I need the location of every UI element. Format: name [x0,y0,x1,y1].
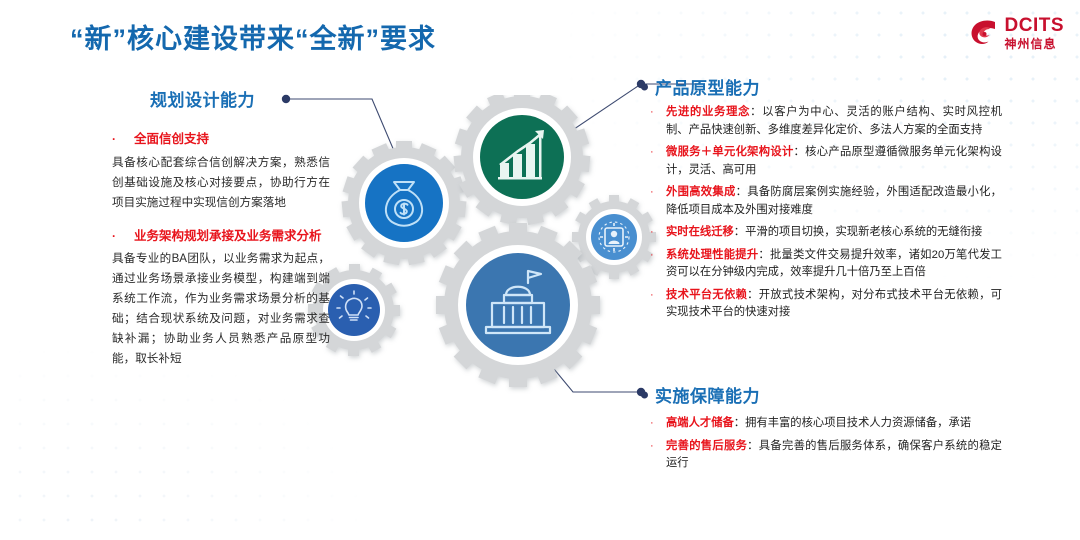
bullet-key: 先进的业务理念 [666,106,750,118]
right-top-bullet-0: · 先进的业务理念：以客户为中心、灵活的账户结构、实时风控机制、产品快速创新、多… [650,104,1002,139]
bullet-body: 拥有丰富的核心项目技术人力资源储备，承诺 [745,417,971,429]
bullet-marker-icon: · [650,247,666,264]
bullet-sep: ： [747,440,759,452]
left-bullet-0-head: · 全面信创支持 [112,130,330,149]
brand-logo: DCITS 神州信息 [969,16,1065,50]
logo-chinese-name: 神州信息 [1005,38,1065,50]
bullet-marker-icon: · [650,104,666,121]
page-title: “新”核心建设带来“全新”要求 [70,17,436,56]
logo-english-name: DCITS [1005,16,1065,35]
right-bottom-section-heading: 实施保障能力 [655,382,760,407]
right-top-bullet-2-text: 外围高效集成：具备防腐层案例实施经验，外围适配改造最小化，降低项目成本及外围对接… [666,184,1002,219]
bullet-key: 微服务＋单元化架构设计 [666,146,794,158]
bullet-sep: ： [734,417,745,429]
left-section-heading: 规划设计能力 [150,86,255,111]
right-bottom-bullet-0: · 高端人才储备：拥有丰富的核心项目技术人力资源储备，承诺 [650,415,1002,433]
bullet-marker-icon: · [650,144,666,161]
bullet-sep: ： [747,289,759,301]
bullet-key: 完善的售后服务 [666,440,747,452]
gear-growth [454,95,591,225]
left-bullet-1-body: 具备专业的BA团队，以业务需求为起点，通过业务场景承接业务模型，构建端到端系统工… [112,249,330,369]
bullet-marker-icon: · [650,415,666,432]
gear-money-bag [342,141,467,265]
right-top-bullet-4-text: 系统处理性能提升：批量类文件交易提升效率，诸如20万笔代发工资可以在分钟级内完成… [666,247,1002,282]
bullet-marker-icon: · [112,130,126,148]
bullet-marker-icon: · [650,224,666,241]
right-top-bullet-5: · 技术平台无依赖：开放式技术架构，对分布式技术平台无依赖，可实现技术平台的快速… [650,287,1002,322]
gear-center-disc [466,253,570,357]
bullet-sep: ： [750,106,762,118]
bullet-sep: ： [758,249,770,261]
left-bullet-1-title: 业务架构规划承接及业务需求分析 [126,227,330,246]
right-top-bullet-3: · 实时在线迁移：平滑的项目切换，实现新老核心系统的无缝衔接 [650,224,1002,242]
gear-cluster-illustration [300,95,660,425]
right-top-bullet-5-text: 技术平台无依赖：开放式技术架构，对分布式技术平台无依赖，可实现技术平台的快速对接 [666,287,1002,322]
bullet-key: 外围高效集成 [666,186,736,198]
right-top-bullet-3-text: 实时在线迁移：平滑的项目切换，实现新老核心系统的无缝衔接 [666,224,1002,242]
left-bullet-1-head: · 业务架构规划承接及业务需求分析 [112,227,330,246]
left-bullet-0-title: 全面信创支持 [126,130,330,149]
bullet-sep: ： [794,146,806,158]
right-bottom-bullet-0-text: 高端人才储备：拥有丰富的核心项目技术人力资源储备，承诺 [666,415,1002,433]
right-top-bullet-4: · 系统处理性能提升：批量类文件交易提升效率，诸如20万笔代发工资可以在分钟级内… [650,247,1002,282]
right-top-section-heading: 产品原型能力 [655,74,760,99]
left-bullet-1: · 业务架构规划承接及业务需求分析 具备专业的BA团队，以业务需求为起点，通过业… [112,227,330,369]
bullet-sep: ： [736,186,748,198]
right-top-bullet-2: · 外围高效集成：具备防腐层案例实施经验，外围适配改造最小化，降低项目成本及外围… [650,184,1002,219]
bullet-key: 技术平台无依赖 [666,289,747,301]
right-top-bullet-1: · 微服务＋单元化架构设计：核心产品原型遵循微服务单元化架构设计，灵活、高可用 [650,144,1002,179]
right-bottom-bullet-1-text: 完善的售后服务：具备完善的售后服务体系，确保客户系统的稳定运行 [666,438,1002,473]
gear-institution [436,223,600,387]
bullet-sep: ： [734,226,745,238]
left-section-body: · 全面信创支持 具备核心配套综合信创解决方案，熟悉信创基础设施及核心对接要点，… [112,130,330,383]
bullet-key: 实时在线迁移 [666,226,734,238]
bullet-marker-icon: · [112,227,126,245]
bullet-body: 平滑的项目切换，实现新老核心系统的无缝衔接 [745,226,982,238]
right-top-bullet-1-text: 微服务＋单元化架构设计：核心产品原型遵循微服务单元化架构设计，灵活、高可用 [666,144,1002,179]
left-bullet-0: · 全面信创支持 具备核心配套综合信创解决方案，熟悉信创基础设施及核心对接要点，… [112,130,330,213]
right-top-bullet-0-text: 先进的业务理念：以客户为中心、灵活的账户结构、实时风控机制、产品快速创新、多维度… [666,104,1002,139]
bullet-marker-icon: · [650,287,666,304]
dcits-swirl-icon [969,19,999,47]
right-bottom-section-body: · 高端人才储备：拥有丰富的核心项目技术人力资源储备，承诺 · 完善的售后服务：… [650,415,1002,478]
gear-people [572,195,656,279]
left-bullet-0-body: 具备核心配套综合信创解决方案，熟悉信创基础设施及核心对接要点，协助行方在项目实施… [112,153,330,213]
right-top-section-body: · 先进的业务理念：以客户为中心、灵活的账户结构、实时风控机制、产品快速创新、多… [650,104,1002,327]
bullet-key: 系统处理性能提升 [666,249,758,261]
bullet-marker-icon: · [650,438,666,455]
right-bottom-bullet-1: · 完善的售后服务：具备完善的售后服务体系，确保客户系统的稳定运行 [650,438,1002,473]
bullet-key: 高端人才储备 [666,417,734,429]
bullet-marker-icon: · [650,184,666,201]
slide-canvas: “新”核心建设带来“全新”要求 DCITS 神州信息 [0,0,1080,540]
